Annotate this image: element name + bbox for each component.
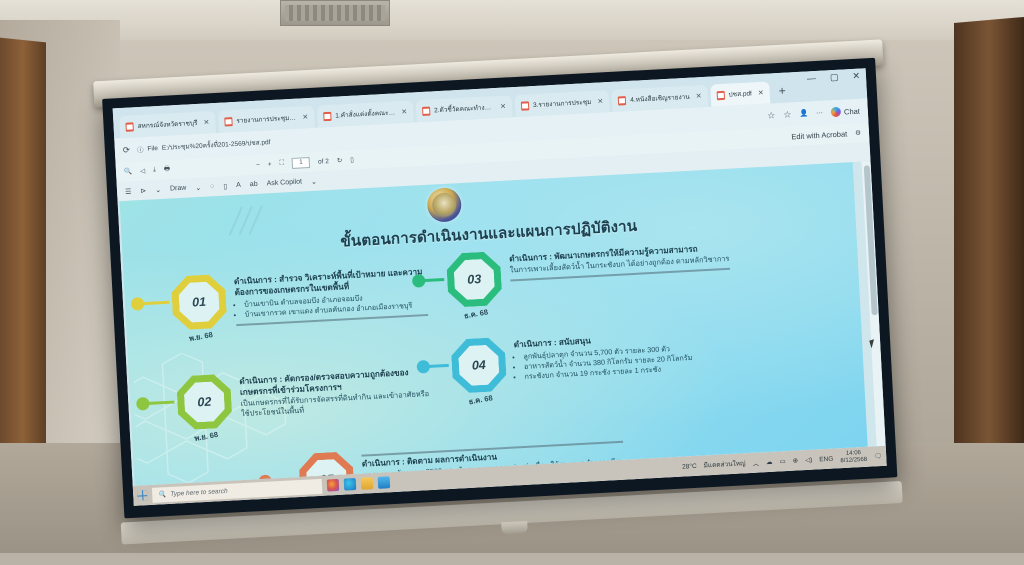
- step-badge-wrap: 03 ธ.ค. 68: [441, 251, 505, 254]
- onedrive-icon[interactable]: ☁: [766, 458, 773, 466]
- browser-window: สหกรณ์จังหวัดราชบุรี ✕ รายงานการประชุม ค…: [113, 68, 887, 506]
- step-number: 01: [178, 281, 220, 323]
- info-icon: ⓘ: [137, 144, 144, 154]
- text-box-icon[interactable]: ▯: [223, 182, 227, 190]
- tab-close-icon[interactable]: ✕: [597, 97, 603, 105]
- step-badge[interactable]: 03: [446, 251, 503, 308]
- draw-chevron-down-icon[interactable]: ⌄: [195, 183, 201, 191]
- zoom-in-button[interactable]: +: [268, 161, 272, 168]
- browser-tab-active[interactable]: ปชส.pdf ✕: [710, 81, 770, 106]
- connector-line: [420, 278, 444, 282]
- wood-trim-left: [0, 38, 46, 463]
- slide-page: ขั้นตอนการดำเนินงานและแผนการปฏิบัติงาน 0…: [120, 162, 868, 486]
- volume-icon[interactable]: ◁): [805, 456, 813, 464]
- step-item-01: 01 พ.ย. 68 ดำเนินการ : สำรวจ วิเคราะห์พื…: [166, 263, 428, 330]
- copilot-icon[interactable]: [327, 479, 340, 492]
- menu-icon[interactable]: ☰: [125, 187, 132, 195]
- step-badge[interactable]: 01: [171, 274, 228, 331]
- tab-close-icon[interactable]: ✕: [696, 92, 702, 100]
- projector-screen: สหกรณ์จังหวัดราชบุรี ✕ รายงานการประชุม ค…: [82, 0, 920, 565]
- draw-button[interactable]: Draw: [170, 185, 187, 193]
- close-button[interactable]: ✕: [852, 71, 860, 82]
- step-badge-wrap: 01 พ.ย. 68: [166, 273, 230, 276]
- page-number-input[interactable]: 1: [292, 157, 311, 169]
- clock[interactable]: 14:06 8/12/2568: [840, 450, 867, 465]
- start-icon[interactable]: [137, 490, 148, 501]
- copilot-chat-button[interactable]: Chat: [831, 106, 860, 118]
- step-badge[interactable]: 04: [450, 337, 507, 394]
- edit-with-acrobat-button[interactable]: Edit with Acrobat: [791, 129, 847, 141]
- print-icon[interactable]: 🖶: [164, 164, 171, 175]
- highlight-icon[interactable]: ab: [250, 181, 258, 188]
- layout-icon[interactable]: ▯: [350, 156, 354, 164]
- tab-title: 1.คำสั่งแต่งตั้งคณะกร: [335, 107, 396, 120]
- connector-line: [425, 364, 449, 368]
- page-count-label: of 2: [318, 158, 329, 166]
- read-aloud-icon[interactable]: ◁: [140, 167, 145, 175]
- pdf-viewport: ขั้นตอนการดำเนินงานและแผนการปฏิบัติงาน 0…: [118, 161, 886, 486]
- tab-favicon-icon: [125, 122, 133, 131]
- copilot-orb-icon: [831, 107, 842, 118]
- tab-favicon-icon: [716, 90, 724, 99]
- profile-icon[interactable]: 👤: [799, 109, 808, 117]
- favorite-add-icon[interactable]: ☆: [767, 110, 776, 121]
- step-item-04: 04 ธ.ค. 68 ดำเนินการ : สนับสนุน ลูกพันธุ…: [445, 323, 767, 386]
- network-icon[interactable]: ⊕: [792, 456, 798, 464]
- save-icon[interactable]: ⤓: [153, 166, 156, 174]
- edge-icon[interactable]: [344, 478, 357, 491]
- notification-icon[interactable]: 🗨: [874, 452, 883, 460]
- url-text: E:/ประชุม%20ครั้งที่201-2569/ปชส.pdf: [162, 137, 271, 153]
- url-scheme: File: [147, 145, 158, 153]
- step-body: ดำเนินการ : สำรวจ วิเคราะห์พื้นที่เป้าหม…: [230, 263, 429, 326]
- tab-title: สหกรณ์จังหวัดราชบุรี: [137, 118, 197, 131]
- tab-favicon-icon: [323, 111, 331, 120]
- tab-close-icon[interactable]: ✕: [302, 113, 308, 121]
- fit-page-icon[interactable]: ⛶: [279, 159, 284, 167]
- government-emblem-icon: [426, 187, 462, 223]
- chat-label: Chat: [844, 106, 860, 116]
- window-controls: — ▢ ✕: [807, 71, 861, 85]
- store-icon[interactable]: [378, 476, 391, 489]
- step-body: ดำเนินการ : สนับสนุน ลูกพันธุ์ปลาดุก จำน…: [509, 327, 693, 383]
- step-badge-wrap: 04 ธ.ค. 68: [445, 337, 509, 340]
- search-icon: 🔍: [158, 490, 167, 498]
- more-options-icon[interactable]: ···: [816, 109, 823, 116]
- tab-title: 2.ตัวชี้วัดคณะทำงาน 2: [434, 102, 495, 115]
- tab-favicon-icon: [521, 101, 529, 110]
- language-indicator[interactable]: ENG: [819, 455, 833, 463]
- tab-title: ปชส.pdf: [728, 88, 752, 99]
- step-number: 04: [458, 344, 500, 386]
- file-explorer-icon[interactable]: [361, 477, 374, 490]
- connector-line: [141, 301, 169, 305]
- select-chevron-down-icon[interactable]: ⌄: [155, 185, 161, 193]
- step-number: 02: [183, 381, 225, 423]
- tab-close-icon[interactable]: ✕: [500, 103, 506, 111]
- show-hidden-icons[interactable]: ︿: [752, 458, 759, 468]
- step-date: ธ.ค. 68: [468, 392, 494, 408]
- step-number: 03: [453, 258, 495, 300]
- tab-favicon-icon: [224, 117, 232, 126]
- tab-title: 4.หนังสือเชิญรายงาน: [630, 92, 690, 105]
- toolbar-right-group: ☆ ☆ 👤 ··· Chat: [767, 105, 860, 121]
- step-body: ดำเนินการ : คัดกรอง/ตรวจสอบความถูกต้องขอ…: [235, 363, 433, 419]
- tab-close-icon[interactable]: ✕: [203, 118, 209, 126]
- clock-date: 8/12/2568: [840, 457, 867, 465]
- search-placeholder: Type here to search: [170, 487, 228, 497]
- search-icon[interactable]: 🔍: [124, 167, 133, 175]
- copilot-chevron-down-icon[interactable]: ⌄: [311, 177, 317, 185]
- screen-knob: [501, 521, 528, 534]
- tab-title: 3.รายงานการประชุม: [533, 97, 592, 110]
- step-date: พ.ย. 68: [188, 329, 214, 345]
- tab-close-icon[interactable]: ✕: [758, 89, 764, 97]
- battery-icon[interactable]: ▭: [779, 457, 786, 465]
- tab-close-icon[interactable]: ✕: [401, 108, 407, 116]
- step-date: ธ.ค. 68: [463, 306, 489, 322]
- tab-title: รายงานการประชุม ครั้ง: [236, 113, 297, 126]
- erase-icon[interactable]: ◌: [210, 183, 215, 190]
- select-icon[interactable]: ⊳: [140, 186, 146, 194]
- settings-icon[interactable]: ⚙: [855, 129, 861, 137]
- screen-frame: สหกรณ์จังหวัดราชบุรี ✕ รายงานการประชุม ค…: [102, 58, 897, 519]
- ask-copilot-button[interactable]: Ask Copilot: [266, 178, 302, 187]
- new-tab-button[interactable]: +: [772, 80, 792, 103]
- scrollbar-thumb[interactable]: [864, 165, 878, 315]
- minimize-button[interactable]: —: [807, 73, 817, 84]
- refresh-icon[interactable]: ⟳: [123, 144, 131, 155]
- weather-temp[interactable]: 28°C: [682, 462, 697, 470]
- tab-favicon-icon: [618, 96, 626, 105]
- zoom-out-button[interactable]: −: [256, 161, 260, 168]
- favorites-icon[interactable]: ☆: [783, 109, 792, 120]
- tab-favicon-icon: [422, 106, 430, 115]
- weather-desc[interactable]: มีแดดส่วนใหญ่: [703, 458, 745, 470]
- screen-surface: สหกรณ์จังหวัดราชบุรี ✕ รายงานการประชุม ค…: [113, 68, 887, 506]
- address-bar[interactable]: ⓘ File E:/ประชุม%20ครั้งที่201-2569/ปชส.…: [137, 137, 271, 154]
- step-body: ดำเนินการ : พัฒนาเกษตรกรให้มีความรู้ความ…: [505, 239, 730, 282]
- maximize-button[interactable]: ▢: [830, 72, 839, 83]
- rotate-icon[interactable]: ↻: [337, 156, 343, 164]
- text-size-icon[interactable]: A: [236, 182, 241, 189]
